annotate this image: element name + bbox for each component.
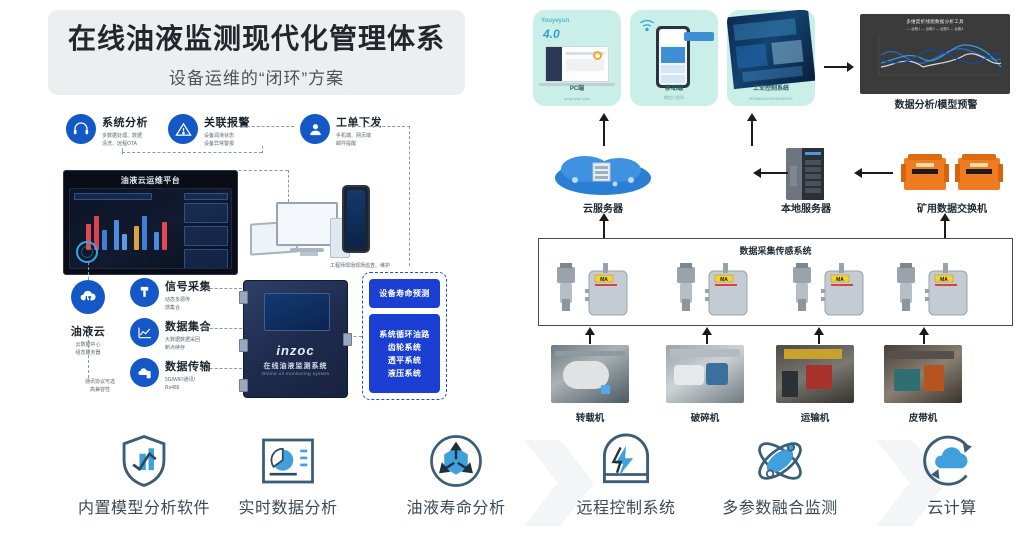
client-card-mobile[interactable]: 移动端 微信小程序: [630, 10, 718, 106]
version-label: 4.0: [543, 27, 560, 41]
bottom-feature-4[interactable]: 多参数融合监测: [700, 432, 860, 518]
machine-label-3: 运输机: [776, 410, 854, 424]
arrow-left-icon: [752, 166, 788, 185]
desktop-monitor-illustration: [276, 202, 338, 246]
feature-linked-alarm[interactable]: 关联报警 设备润滑状态 设备异常警报: [168, 114, 250, 148]
connector-dashed: [288, 170, 289, 202]
feature-desc-1: 5G/WIFI通讯/: [165, 377, 195, 383]
feature-title: 数据传输: [165, 358, 211, 374]
prediction-item: 液压系统: [371, 368, 438, 379]
prediction-item: 系统循环油路: [371, 329, 438, 340]
pie-dashboard-icon: [208, 432, 368, 490]
feature-title: 数据集合: [165, 318, 211, 334]
bottom-feature-3[interactable]: 远程控制系统: [546, 432, 706, 518]
annotation-protocol-l1: 通讯协议可选: [85, 379, 115, 385]
wifi-icon: [639, 19, 655, 37]
client-sub: 微信小程序: [630, 95, 718, 101]
cloud-sync-icon: [71, 280, 105, 314]
client-sub: youyeyun.com: [533, 96, 621, 101]
sensor-pair: MA: [787, 261, 883, 324]
monitor-screen: [69, 188, 232, 269]
oil-monitoring-device: inzoc 在线油液监测系统 Online oil monitoring sys…: [243, 280, 348, 398]
connector-dashed: [232, 126, 294, 127]
bottom-feature-2[interactable]: 油液寿命分析: [376, 432, 536, 518]
connector-dashed: [122, 152, 262, 153]
machine-photo-1: [551, 345, 629, 403]
connector-dashed: [262, 146, 263, 153]
connector-dashed: [200, 328, 242, 329]
feature-desc-2: 断点续存: [165, 345, 185, 351]
feature-desc-1: 设备润滑状态: [204, 133, 234, 139]
cube-arrows-icon: [376, 432, 536, 490]
client-sub: RS485/232/RJ45/4G/5G: [727, 96, 815, 101]
prediction-header: 设备寿命预测: [369, 279, 440, 308]
feature-title: 信号采集: [165, 278, 211, 294]
chart-title: 多维度折线图数据分析工具: [865, 19, 1005, 25]
feature-desc-2: 设备异常警报: [204, 141, 234, 147]
infra-label-mining-switch: 矿用数据交换机: [893, 200, 1011, 215]
cloud-server-icon: [553, 150, 653, 198]
feature-desc-2: 邮件提醒: [336, 141, 356, 147]
smartphone-illustration: [342, 185, 370, 253]
feature-desc-2: 清洗、远程OTA: [102, 141, 137, 147]
bottom-feature-5[interactable]: 云计算: [872, 432, 1027, 518]
prediction-items: 系统循环油路 齿轮系统 透平系统 液压系统: [369, 314, 440, 393]
line-chart-icon: [130, 318, 159, 347]
chart-plot: [865, 33, 1005, 85]
client-title: 工业控制系统: [727, 83, 815, 92]
connector-dashed: [88, 330, 89, 378]
sensor-system-box: 数据采集传感系统 MA: [538, 238, 1013, 326]
bottom-feature-strip: 内置模型分析软件 实时数据分析: [0, 432, 1027, 534]
client-title: 移动端: [630, 83, 718, 92]
title-card: 在线油液监测现代化管理体系 设备运维的“闭环”方案: [48, 10, 465, 95]
industrial-control-icon: [727, 10, 815, 89]
machine-photo-4: [884, 345, 962, 403]
bottom-feature-1[interactable]: 实时数据分析: [208, 432, 368, 518]
annotation-engineer: 工程师现场现场巡查、维护: [285, 262, 435, 270]
sensor-system-title: 数据采集传感系统: [539, 239, 1012, 257]
feature-desc-2: Rs485: [165, 385, 179, 391]
feature-desc-1: 手机端、网页端: [336, 133, 371, 139]
arrow-up-icon: [597, 112, 611, 151]
svg-text:MA: MA: [940, 277, 948, 283]
machine-photo-3: [776, 345, 854, 403]
connector-dashed: [409, 126, 410, 266]
device-name-cn: 在线油液监测系统: [244, 361, 347, 371]
machine-photo-2: [666, 345, 744, 403]
connector-dashed: [348, 126, 410, 127]
analysis-label: 数据分析/模型预警: [862, 96, 1010, 111]
brand-badge: Youyeyun: [541, 18, 569, 24]
connector-dashed: [88, 262, 89, 280]
feature-data-aggregation[interactable]: 数据集合 大数据数据采回 断点续存: [130, 318, 211, 352]
feature-title: 系统分析: [102, 114, 148, 130]
prediction-item: 透平系统: [371, 355, 438, 366]
tower-server-icon: [782, 146, 828, 202]
feature-desc-1: 动态多源传: [165, 297, 190, 303]
cloud-refresh-icon: [872, 432, 1027, 490]
feature-desc-2: 感集合: [165, 305, 180, 311]
life-prediction-box: 设备寿命预测 系统循环油路 齿轮系统 透平系统 液压系统: [362, 272, 447, 400]
ai-headset-icon: [66, 114, 96, 144]
warning-triangle-icon: [168, 114, 198, 144]
prediction-item: 齿轮系统: [371, 342, 438, 353]
annotation-protocol-l2: 高兼容性: [90, 387, 110, 393]
chart-legend: — 台账1 — 台账2 — 台账3 — 台账4: [865, 27, 1005, 32]
feature-work-order[interactable]: 工单下发 手机端、网页端 邮件提醒: [300, 114, 382, 148]
cloud-platform-monitor: 油液云运维平台: [63, 170, 238, 275]
analysis-chart-panel: 多维度折线图数据分析工具 — 台账1 — 台账2 — 台账3 — 台账4: [860, 14, 1010, 94]
arrow-up-icon: [745, 112, 759, 151]
feature-data-transmission[interactable]: 数据传输 5G/WIFI通讯/ Rs485: [130, 358, 211, 392]
device-screen: [264, 293, 330, 331]
device-brand: inzoc: [244, 343, 347, 358]
bottom-feature-label: 云计算: [872, 494, 1027, 518]
feature-title: 工单下发: [336, 114, 382, 130]
bottom-feature-label: 多参数融合监测: [700, 494, 860, 518]
machine-label-2: 破碎机: [666, 410, 744, 424]
client-card-pc[interactable]: Youyeyun 4.0 PC端 youyeyun.com: [533, 10, 621, 106]
laptop-icon: [545, 46, 609, 82]
feature-title: 关联报警: [204, 114, 250, 130]
atom-orbit-icon: [700, 432, 860, 490]
bottom-feature-label: 内置模型分析软件: [64, 494, 224, 518]
mining-switch-icon: [900, 150, 1004, 198]
feature-desc-1: 多数据处理、数据: [102, 133, 142, 139]
page-subtitle: 设备运维的“闭环”方案: [169, 64, 344, 89]
client-title: PC端: [533, 83, 621, 92]
page-title: 在线油液监测现代化管理体系: [68, 17, 445, 57]
client-card-industrial[interactable]: 工业控制系统 RS485/232/RJ45/4G/5G: [727, 10, 815, 106]
connector-dashed: [122, 148, 123, 154]
connector-dashed: [200, 368, 242, 369]
feature-desc-1: 大数据数据采回: [165, 337, 200, 343]
arrow-left-icon: [853, 166, 893, 185]
sensor-probe-icon: [130, 278, 159, 307]
sensor-pair: MA: [891, 261, 987, 324]
infra-label-local-server: 本地服务器: [768, 200, 844, 215]
feature-system-analysis[interactable]: 系统分析 多数据处理、数据 清洗、远程OTA: [66, 114, 148, 148]
infographic-page: 在线油液监测现代化管理体系 设备运维的“闭环”方案 系统分析 多数据处理、数据 …: [0, 0, 1027, 534]
feature-signal-acquisition[interactable]: 信号采集 动态多源传 感集合: [130, 278, 211, 312]
device-name-en: Online oil monitoring system: [244, 371, 347, 376]
lightning-dome-icon: [546, 432, 706, 490]
sensor-pair: MA: [551, 261, 647, 324]
bottom-feature-label: 远程控制系统: [546, 494, 706, 518]
svg-text:MA: MA: [836, 277, 844, 283]
engineer-worker-icon: [300, 114, 330, 144]
machine-label-4: 皮带机: [884, 410, 962, 424]
sensor-pair: MA: [671, 261, 767, 324]
cloud-transfer-icon: [130, 358, 159, 387]
bottom-feature-label: 油液寿命分析: [376, 494, 536, 518]
annotation-protocol: 通讯协议可选高兼容性: [60, 378, 140, 394]
arrow-right-icon: [824, 60, 854, 79]
machine-label-1: 转载机: [551, 410, 629, 424]
monitor-title: 油液云运维平台: [64, 171, 237, 186]
monitor-stand: [290, 248, 324, 252]
bottom-feature-label: 实时数据分析: [208, 494, 368, 518]
shield-chart-icon: [64, 432, 224, 490]
connector-dashed: [200, 288, 242, 289]
svg-text:MA: MA: [600, 277, 608, 283]
bottom-feature-0[interactable]: 内置模型分析软件: [64, 432, 224, 518]
svg-text:MA: MA: [720, 277, 728, 283]
